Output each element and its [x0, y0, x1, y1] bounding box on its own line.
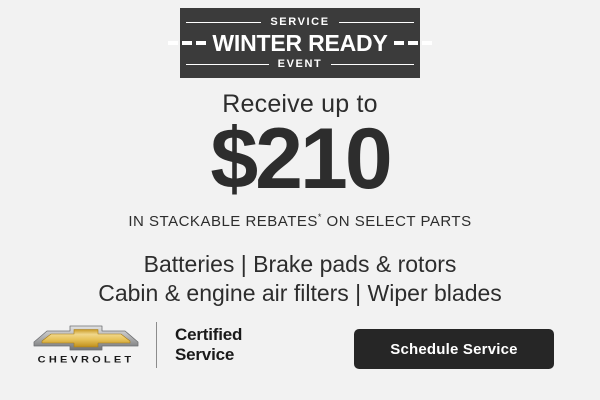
footer-bar: CHEVROLET Certified Service Schedule Ser… [0, 318, 600, 380]
badge-title-row: WINTER READY [180, 32, 420, 55]
dash-icon [196, 41, 206, 45]
eligible-parts-list: Batteries | Brake pads & rotors Cabin & … [0, 250, 600, 308]
badge-rule-left [186, 22, 261, 23]
certified-service-line-2: Service [175, 345, 242, 365]
badge-eyebrow-label: SERVICE [261, 17, 338, 28]
advertisement-banner: SERVICE WINTER READY EVENT Receive up to… [0, 0, 600, 400]
lockup-divider [156, 322, 157, 368]
offer-qualifier-tail: ON SELECT PARTS [322, 213, 472, 230]
dash-icon [422, 41, 432, 45]
winter-ready-event-badge: SERVICE WINTER READY EVENT [180, 8, 420, 78]
dash-icon [394, 41, 404, 45]
dash-icon [408, 41, 418, 45]
eligible-parts-line-1: Batteries | Brake pads & rotors [0, 250, 600, 279]
badge-rule-right-lower [331, 64, 414, 65]
eligible-parts-line-2: Cabin & engine air filters | Wiper blade… [0, 279, 600, 308]
chevrolet-bowtie-icon [32, 324, 140, 352]
chevrolet-wordmark: CHEVROLET [38, 356, 135, 365]
offer-qualifier-text: IN STACKABLE REBATES [128, 213, 318, 230]
schedule-service-button[interactable]: Schedule Service [354, 329, 554, 369]
badge-eyebrow-row: SERVICE [180, 17, 420, 28]
brand-lockup: CHEVROLET Certified Service [30, 322, 242, 368]
badge-footer-label: EVENT [269, 59, 332, 70]
dash-icon [168, 41, 178, 45]
chevrolet-logo: CHEVROLET [30, 324, 142, 366]
badge-title: WINTER READY [212, 32, 387, 55]
badge-dashes-right [388, 41, 438, 45]
badge-rule-right [339, 22, 414, 23]
offer-amount: $210 [0, 116, 600, 202]
certified-service-line-1: Certified [175, 325, 242, 345]
badge-dashes-left [162, 41, 212, 45]
dash-icon [182, 41, 192, 45]
badge-rule-left-lower [186, 64, 269, 65]
certified-service-label: Certified Service [175, 325, 242, 365]
offer-qualifier: IN STACKABLE REBATES* ON SELECT PARTS [0, 214, 600, 229]
badge-footer-row: EVENT [180, 59, 420, 70]
